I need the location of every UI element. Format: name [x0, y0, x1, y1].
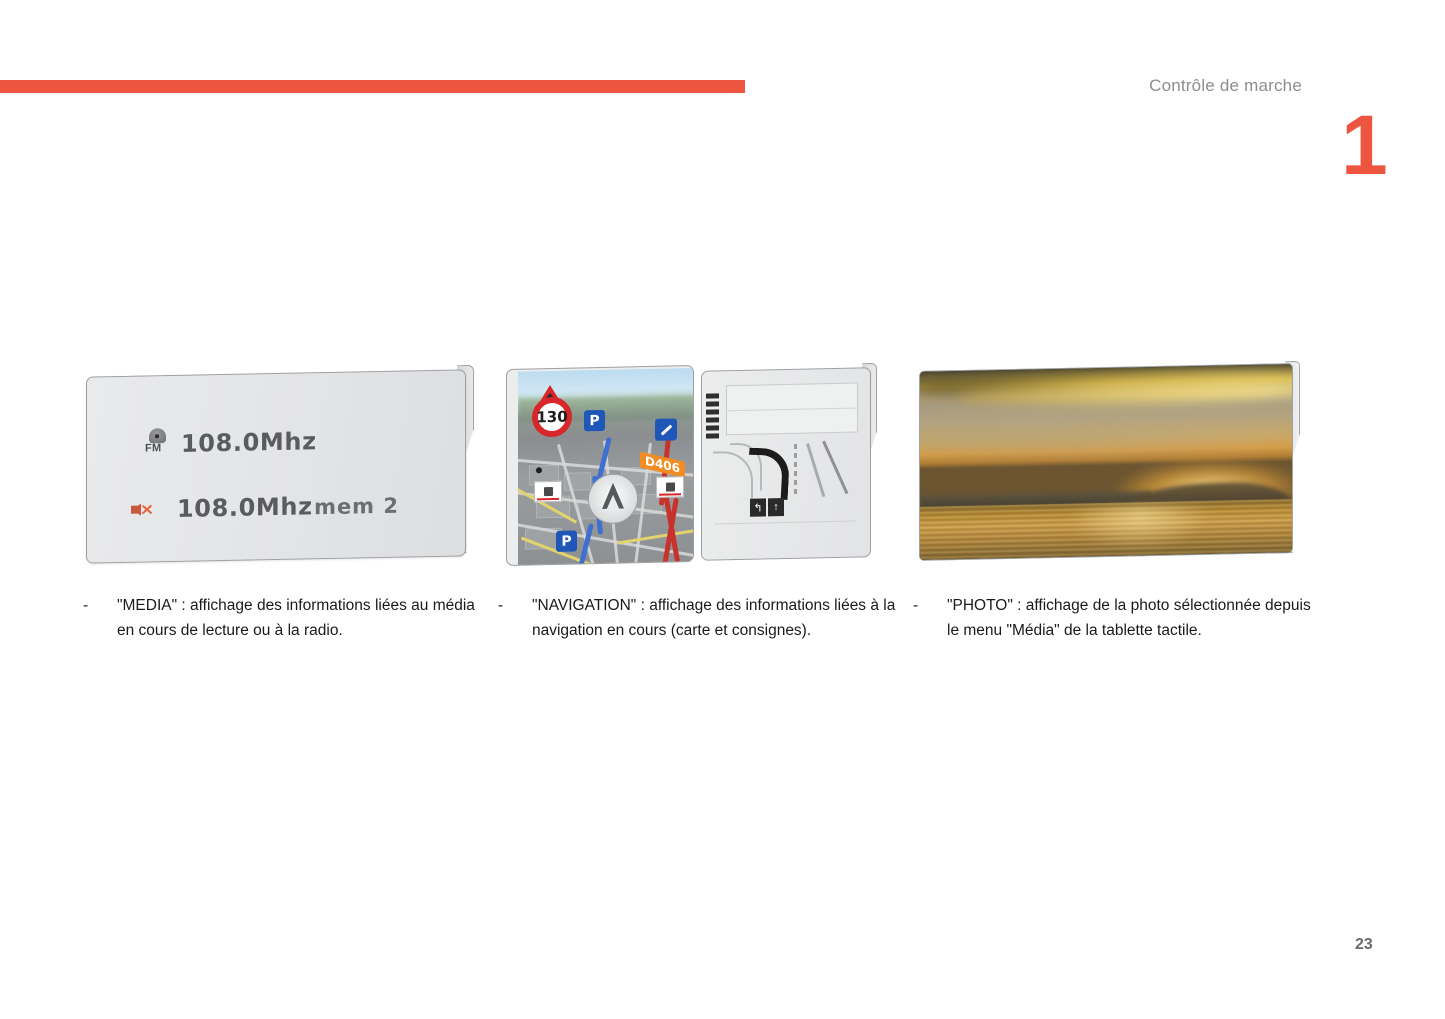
- photo-screen-panel: [919, 363, 1293, 561]
- navigation-screen-figure: 130 P P D406: [498, 355, 898, 580]
- radio-antenna-icon: FM: [145, 428, 171, 458]
- navigation-map-canvas: 130 P P D406: [518, 368, 694, 566]
- speed-limit-sign: 130: [532, 397, 572, 438]
- caption-bullet: -: [83, 594, 117, 619]
- caption-text: "PHOTO" : affichage de la photo sélectio…: [947, 594, 1313, 643]
- page-section-title: Contrôle de marche: [1149, 76, 1302, 96]
- caption-bullet: -: [498, 594, 532, 619]
- poi-marker: [656, 476, 684, 498]
- instruction-divider: [714, 521, 856, 525]
- instruction-text-area: [726, 382, 858, 435]
- media-screen-panel: FM 108.0Mhz 108.0Mhz mem 2: [86, 369, 466, 563]
- media-band-row: FM 108.0Mhz: [145, 425, 317, 458]
- turn-arrow-icon: [748, 448, 786, 497]
- media-screen-figure: FM 108.0Mhz 108.0Mhz mem 2: [83, 355, 483, 580]
- navigation-instruction-panel: ↰ ↑: [701, 367, 871, 561]
- lane-badge-straight-icon: ↑: [768, 498, 784, 516]
- media-mute-row: 108.0Mhz: [131, 492, 313, 523]
- figure-block-navigation: 130 P P D406: [498, 355, 898, 580]
- speaker-mute-icon: [131, 499, 153, 519]
- media-frequency-primary: 108.0Mhz: [181, 427, 317, 458]
- figure-block-photo: - "PHOTO" : affichage de la photo sélect…: [913, 355, 1313, 580]
- caption-media: - "MEDIA" : affichage des informations l…: [83, 594, 483, 643]
- chapter-number: 1: [1341, 103, 1388, 187]
- lane-divider-dotted: [794, 444, 797, 496]
- distance-bar-icon: [706, 393, 719, 445]
- page-number: 23: [1355, 936, 1373, 954]
- caption-text: "NAVIGATION" : affichage des information…: [532, 594, 898, 643]
- lane-guide-line: [822, 441, 848, 495]
- figure-columns: FM 108.0Mhz 108.0Mhz mem 2 - "MEDIA" : a…: [0, 355, 1445, 675]
- caption-photo: - "PHOTO" : affichage de la photo sélect…: [913, 594, 1313, 643]
- caption-text: "MEDIA" : affichage des informations lié…: [117, 594, 483, 643]
- navigation-arrow-icon: [588, 473, 638, 524]
- sunset-over-water-photo: [920, 364, 1292, 560]
- header-accent-rule: [0, 80, 745, 93]
- lane-badge-left-icon: ↰: [750, 498, 766, 516]
- caption-bullet: -: [913, 594, 947, 619]
- navigation-map-panel: 130 P P D406: [506, 365, 694, 566]
- caption-navigation: - "NAVIGATION" : affichage des informati…: [498, 594, 898, 643]
- photo-screen-figure: [913, 355, 1313, 580]
- wrench-icon: [655, 418, 677, 440]
- lane-direction-badges: ↰ ↑: [750, 498, 784, 517]
- media-memory-label: mem 2: [314, 494, 399, 520]
- poi-marker: [534, 481, 562, 503]
- parking-badge-icon: P: [556, 530, 577, 551]
- figure-block-media: FM 108.0Mhz 108.0Mhz mem 2 - "MEDIA" : a…: [83, 355, 483, 580]
- lane-guide-line: [806, 443, 825, 497]
- media-band-label: FM: [145, 442, 161, 454]
- parking-badge-icon: P: [584, 410, 605, 431]
- media-frequency-secondary: 108.0Mhz: [177, 492, 313, 523]
